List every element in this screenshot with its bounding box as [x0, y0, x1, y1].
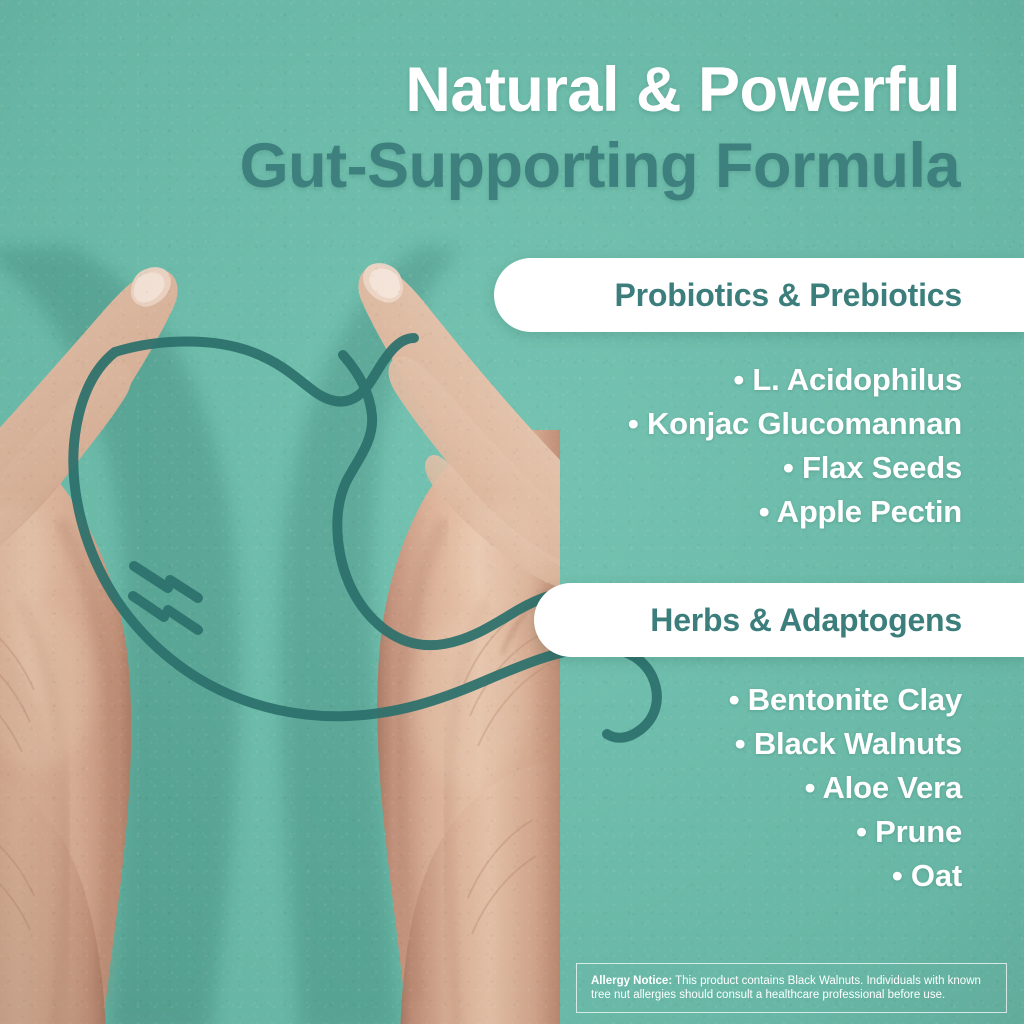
page-title: Natural & Powerful Gut-Supporting Formul…: [0, 52, 1016, 204]
list-item: • Black Walnuts: [729, 722, 962, 766]
poster-canvas: Natural & Powerful Gut-Supporting Formul…: [0, 0, 1024, 1024]
section-banner-probiotics: Probiotics & Prebiotics: [494, 258, 1024, 332]
list-item: • Flax Seeds: [628, 446, 962, 490]
ingredient-list-probiotics: • L. Acidophilus • Konjac Glucomannan • …: [628, 358, 962, 534]
list-item: • Konjac Glucomannan: [628, 402, 962, 446]
allergy-notice-label: Allergy Notice:: [591, 975, 672, 987]
list-item: • Apple Pectin: [628, 490, 962, 534]
section-banner-herbs: Herbs & Adaptogens: [534, 583, 1024, 657]
section-banner-label: Probiotics & Prebiotics: [615, 277, 962, 314]
allergy-notice-text: Allergy Notice: This product contains Bl…: [591, 974, 992, 1003]
list-item: • Aloe Vera: [729, 766, 962, 810]
ingredient-list-herbs: • Bentonite Clay • Black Walnuts • Aloe …: [729, 678, 962, 898]
list-item: • L. Acidophilus: [628, 358, 962, 402]
headline-line-2: Gut-Supporting Formula: [0, 128, 960, 204]
list-item: • Prune: [729, 810, 962, 854]
list-item: • Bentonite Clay: [729, 678, 962, 722]
section-banner-label: Herbs & Adaptogens: [650, 602, 962, 639]
allergy-notice: Allergy Notice: This product contains Bl…: [576, 963, 1007, 1013]
list-item: • Oat: [729, 854, 962, 898]
headline-line-1: Natural & Powerful: [0, 52, 960, 128]
